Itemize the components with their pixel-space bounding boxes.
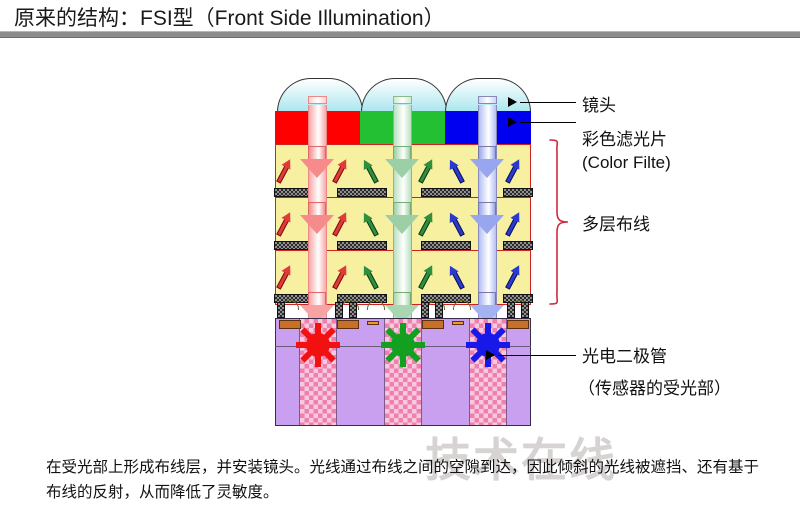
leader-arrow-photodiode bbox=[486, 350, 495, 360]
metal-wire bbox=[503, 241, 533, 250]
contact-via bbox=[521, 302, 529, 318]
metal-wire bbox=[421, 241, 471, 250]
leader-line-photodiode bbox=[498, 355, 576, 356]
metal-wire bbox=[503, 188, 533, 197]
label-wiring: 多层布线 bbox=[582, 210, 650, 235]
page-title: 原来的结构：FSI型（Front Side Illumination） bbox=[14, 2, 445, 32]
figure-caption: 在受光部上形成布线层，并安装镜头。光线通过布线之间的空隙到达，因此倾斜的光线被遮… bbox=[46, 455, 766, 505]
leader-arrow-color-filter bbox=[508, 117, 517, 127]
leader-line-lens bbox=[520, 102, 576, 103]
photo-conversion-burst-green bbox=[382, 324, 424, 366]
label-lens: 镜头 bbox=[582, 91, 616, 116]
metal-wire bbox=[421, 188, 471, 197]
photo-conversion-burst-red bbox=[297, 324, 339, 366]
wiring-brace bbox=[548, 138, 570, 306]
contact-pad bbox=[337, 320, 359, 329]
metal-wire bbox=[337, 188, 387, 197]
contact-pad-small bbox=[452, 321, 464, 325]
leader-arrow-lens bbox=[508, 97, 517, 107]
title-divider bbox=[0, 31, 800, 38]
contact-via bbox=[335, 302, 343, 318]
contact-via bbox=[421, 302, 429, 318]
leader-line-color-filter bbox=[520, 122, 576, 123]
contact-pad bbox=[422, 320, 444, 329]
label-photodiode: 光电二极管 bbox=[582, 342, 667, 367]
contact-pad-small bbox=[367, 321, 379, 325]
contact-via bbox=[507, 302, 515, 318]
label-color-filter-en: (Color Filte) bbox=[582, 153, 671, 173]
contact-via bbox=[349, 302, 357, 318]
fsi-sensor-diagram bbox=[275, 78, 531, 426]
label-color-filter: 彩色滤光片 bbox=[582, 125, 667, 150]
contact-via bbox=[435, 302, 443, 318]
contact-pad bbox=[507, 320, 529, 329]
label-photodiode-sub: （传感器的受光部） bbox=[578, 374, 731, 399]
metal-wire bbox=[337, 241, 387, 250]
contact-via bbox=[277, 302, 285, 318]
